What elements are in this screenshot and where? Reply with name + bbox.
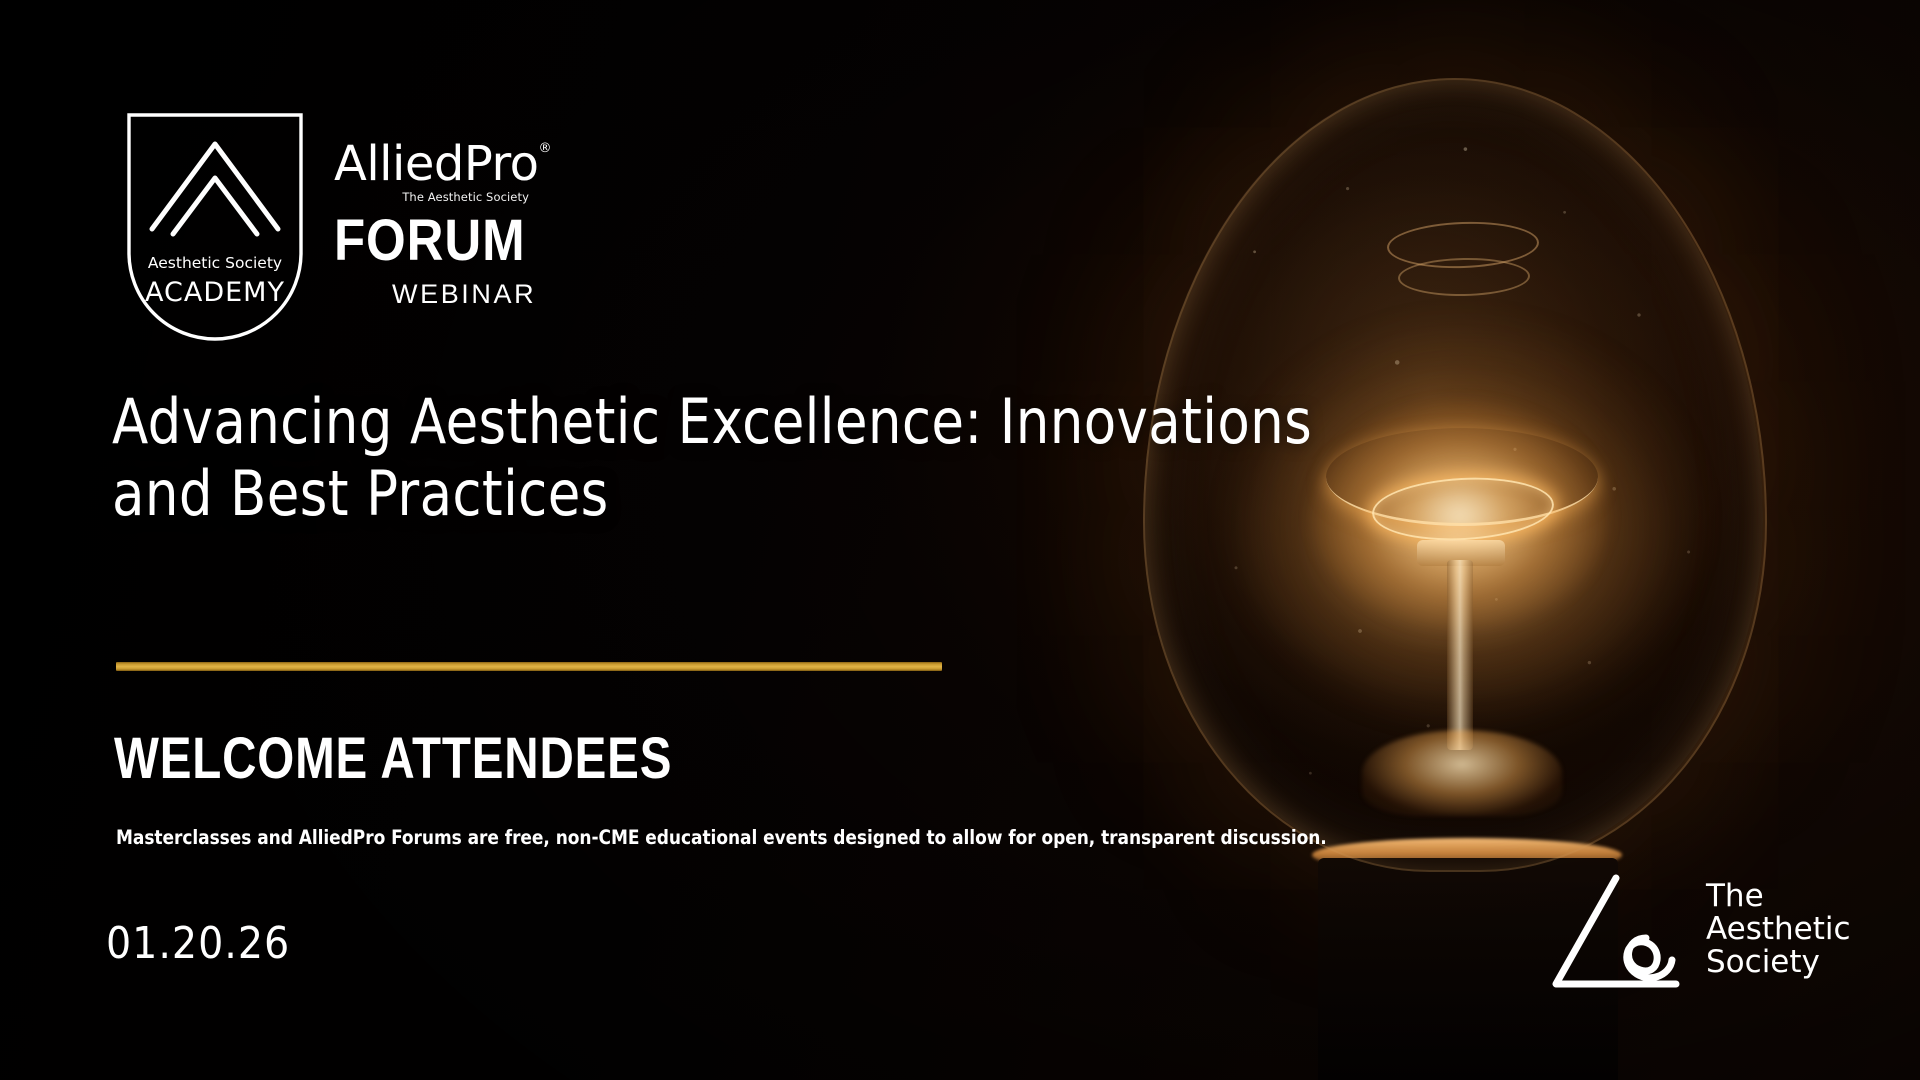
aesthetic-society-academy-logo: Aesthetic Society ACADEMY (126, 112, 304, 342)
society-logo-text: The Aesthetic Society (1706, 880, 1851, 979)
society-line-3: Society (1706, 946, 1851, 979)
alliedpro-wordmark: AlliedPro (334, 140, 539, 188)
alliedpro-tagline: The Aesthetic Society (335, 190, 529, 204)
alliedpro-wordmark-wrap: AlliedPro® (334, 140, 754, 188)
welcome-body-text: Masterclasses and AlliedPro Forums are f… (116, 826, 1327, 849)
headline-line-2: and Best Practices (112, 457, 609, 530)
registered-trademark-icon: ® (539, 142, 552, 155)
academy-logo-line2: ACADEMY (145, 277, 285, 308)
headline-line-1: Advancing Aesthetic Excellence: Innovati… (112, 385, 1312, 458)
event-date: 01.20.26 (106, 918, 290, 969)
society-line-1: The (1706, 880, 1851, 913)
the-aesthetic-society-logo: The Aesthetic Society (1548, 872, 1854, 1000)
society-line-2: Aesthetic (1706, 913, 1851, 946)
gold-divider-rule (116, 662, 942, 671)
chevron-outer-icon (152, 144, 278, 229)
webinar-title-slide: Aesthetic Society ACADEMY AlliedPro® The… (0, 0, 1920, 1080)
webinar-label: WEBINAR (392, 279, 754, 310)
academy-logo-line1: Aesthetic Society (148, 254, 282, 272)
forum-label: FORUM (334, 214, 704, 269)
aesthetic-society-a-mark-icon (1548, 872, 1698, 992)
welcome-heading: WELCOME ATTENDEES (114, 730, 672, 788)
slide-headline: Advancing Aesthetic Excellence: Innovati… (112, 386, 1347, 530)
alliedpro-forum-lockup: AlliedPro® The Aesthetic Society FORUM W… (334, 140, 754, 310)
